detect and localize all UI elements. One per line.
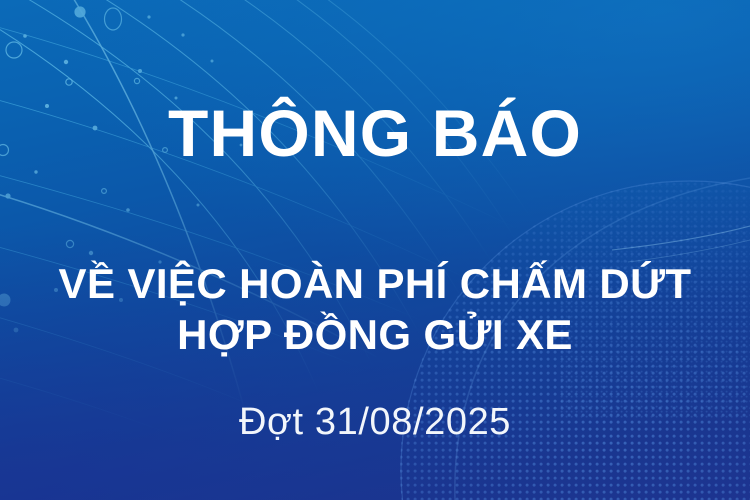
notice-banner: THÔNG BÁO VỀ VIỆC HOÀN PHÍ CHẤM DỨT HỢP … [0,0,750,500]
subtitle-block: VỀ VIỆC HOÀN PHÍ CHẤM DỨT HỢP ĐỒNG GỬI X… [59,258,692,360]
batch-date-label: Đợt 31/08/2025 [239,403,511,441]
subtitle-line-2: HỢP ĐỒNG GỬI XE [59,309,692,360]
subtitle-line-1: VỀ VIỆC HOÀN PHÍ CHẤM DỨT [59,258,692,309]
banner-content: THÔNG BÁO VỀ VIỆC HOÀN PHÍ CHẤM DỨT HỢP … [0,0,750,500]
page-title: THÔNG BÁO [168,100,582,166]
